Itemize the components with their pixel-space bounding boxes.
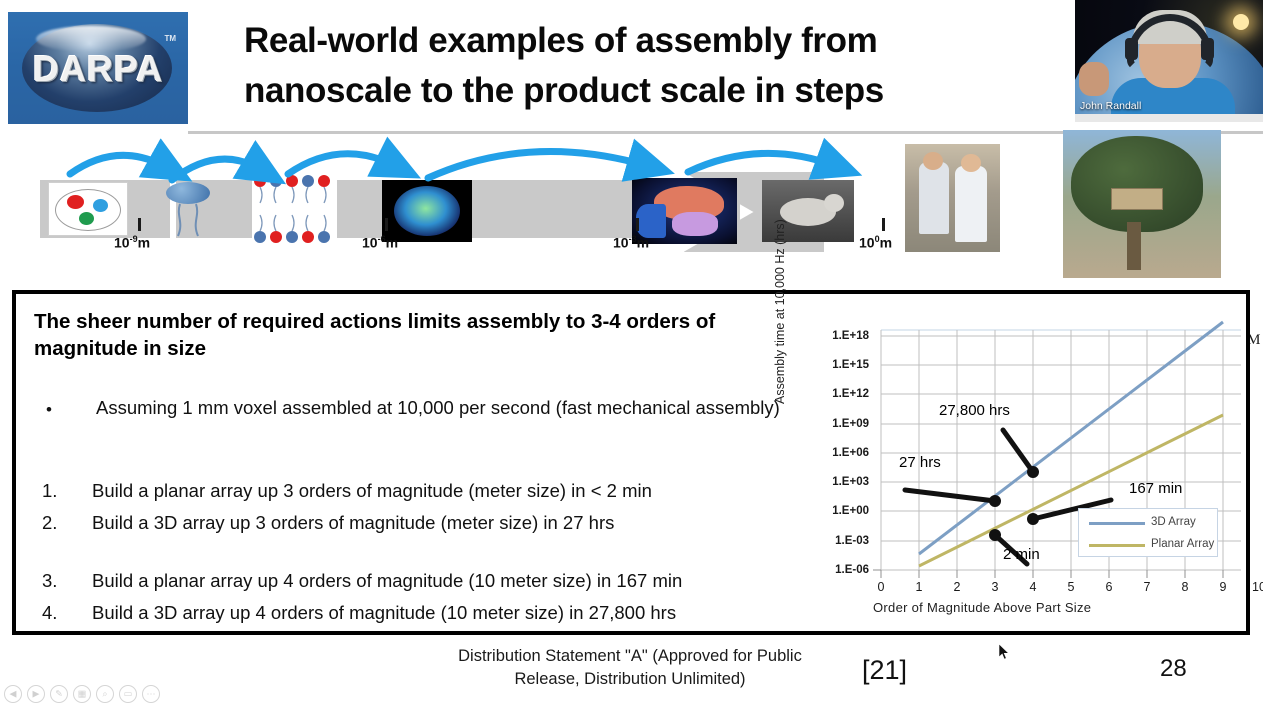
- picture-cell-micrograph: [382, 180, 472, 242]
- bullet-icon: •: [46, 396, 52, 424]
- scale-strip-diagram: NIH NIH NIH NIH BLM BLM BLM 10-9m 10-6m …: [0, 136, 1263, 276]
- reference-number: [21]: [862, 655, 907, 686]
- sun-graphic: [1233, 14, 1249, 30]
- title-line-2: nanoscale to the product scale in steps: [244, 66, 1074, 116]
- scale-tick: [636, 218, 639, 231]
- chart-plot-area: [781, 308, 1241, 608]
- slide-number: 28: [1160, 655, 1187, 683]
- assumption-text: Assuming 1 mm voxel assembled at 10,000 …: [96, 394, 798, 422]
- legend-swatch-planar-array: [1089, 544, 1145, 547]
- legend-label-3d-array: 3D Array: [1151, 516, 1196, 528]
- caption-icon[interactable]: ▭: [119, 685, 137, 703]
- annotation-2-min: 2 min: [1003, 546, 1040, 563]
- title-line-1: Real-world examples of assembly from: [244, 16, 1074, 66]
- annotation-27-hrs: 27 hrs: [899, 454, 941, 471]
- scale-tick: [138, 218, 141, 231]
- grid-icon[interactable]: ▦: [73, 685, 91, 703]
- scale-label: 100m: [859, 234, 892, 251]
- zoom-icon[interactable]: ⌕: [96, 685, 114, 703]
- leader-27800-hrs: [1003, 430, 1033, 472]
- picture-subatomic: [48, 182, 128, 236]
- speaker-hand: [1079, 62, 1109, 96]
- headphone-earcup-left: [1125, 38, 1138, 60]
- list-item: 1. Build a planar array up 3 orders of m…: [38, 476, 808, 508]
- slide-canvas: DARPA TM Real-world examples of assembly…: [0, 0, 1263, 705]
- picture-people: [905, 144, 1000, 252]
- list-text: Build a planar array up 4 orders of magn…: [92, 566, 682, 596]
- list-text: Build a 3D array up 4 orders of magnitud…: [92, 598, 676, 628]
- video-tile-footer: [1075, 114, 1263, 122]
- page-title: Real-world examples of assembly from nan…: [244, 16, 1074, 116]
- speaker-name-label: John Randall: [1075, 99, 1146, 113]
- assembly-time-chart: Assembly time at 10,000 Hz (hrs) Order o…: [781, 308, 1241, 623]
- legend-label-planar-array: Planar Array: [1151, 538, 1214, 550]
- picture-lipid-molecule: [160, 174, 216, 244]
- numbered-list-group-b: 3. Build a planar array up 4 orders of m…: [38, 566, 808, 630]
- annotation-167-min: 167 min: [1129, 480, 1182, 497]
- content-panel: The sheer number of required actions lim…: [12, 290, 1250, 635]
- mouse-cursor-icon: [999, 644, 1010, 660]
- distribution-line-2: Release, Distribution Unlimited): [330, 668, 930, 691]
- list-number: 3.: [42, 566, 72, 596]
- picture-lipid-bilayer: [252, 174, 337, 244]
- distribution-line-1: Distribution Statement "A" (Approved for…: [330, 645, 930, 668]
- logo-wordmark: DARPA: [8, 48, 188, 90]
- headphone-earcup-right: [1201, 38, 1214, 60]
- list-item: 4. Build a 3D array up 4 orders of magni…: [38, 598, 808, 630]
- darpa-logo: DARPA TM: [8, 12, 188, 124]
- distribution-statement: Distribution Statement "A" (Approved for…: [330, 645, 930, 691]
- presentation-toolbar[interactable]: ◀ ▶ ✎ ▦ ⌕ ▭ ⋯: [4, 684, 164, 704]
- trademark-icon: TM: [164, 34, 176, 43]
- list-text: Build a 3D array up 3 orders of magnitud…: [92, 508, 614, 538]
- scale-label: 10-6m: [362, 234, 398, 251]
- annotation-27800-hrs: 27,800 hrs: [939, 402, 1010, 419]
- list-item: 3. Build a planar array up 4 orders of m…: [38, 566, 808, 598]
- next-slide-icon[interactable]: ▶: [27, 685, 45, 703]
- speaker-video-tile[interactable]: John Randall: [1075, 0, 1263, 122]
- list-text: Build a planar array up 3 orders of magn…: [92, 476, 652, 506]
- more-options-icon[interactable]: ⋯: [142, 685, 160, 703]
- pen-icon[interactable]: ✎: [50, 685, 68, 703]
- picture-tree: [1063, 130, 1221, 278]
- scale-tick: [385, 218, 388, 231]
- numbered-list-group-a: 1. Build a planar array up 3 orders of m…: [38, 476, 808, 540]
- scale-tick: [882, 218, 885, 231]
- chart-legend: 3D Array Planar Array: [1078, 508, 1218, 557]
- legend-swatch-3d-array: [1089, 522, 1145, 525]
- list-item: 2. Build a 3D array up 3 orders of magni…: [38, 508, 808, 540]
- prev-slide-icon[interactable]: ◀: [4, 685, 22, 703]
- panel-heading: The sheer number of required actions lim…: [34, 308, 794, 362]
- list-number: 1.: [42, 476, 72, 506]
- scale-label: 10-3m: [613, 234, 649, 251]
- chart-x-tick: 10: [1251, 580, 1263, 594]
- list-number: 2.: [42, 508, 72, 538]
- list-number: 4.: [42, 598, 72, 628]
- assumption-bullet: • Assuming 1 mm voxel assembled at 10,00…: [38, 394, 798, 422]
- scale-label: 10-9m: [114, 234, 150, 251]
